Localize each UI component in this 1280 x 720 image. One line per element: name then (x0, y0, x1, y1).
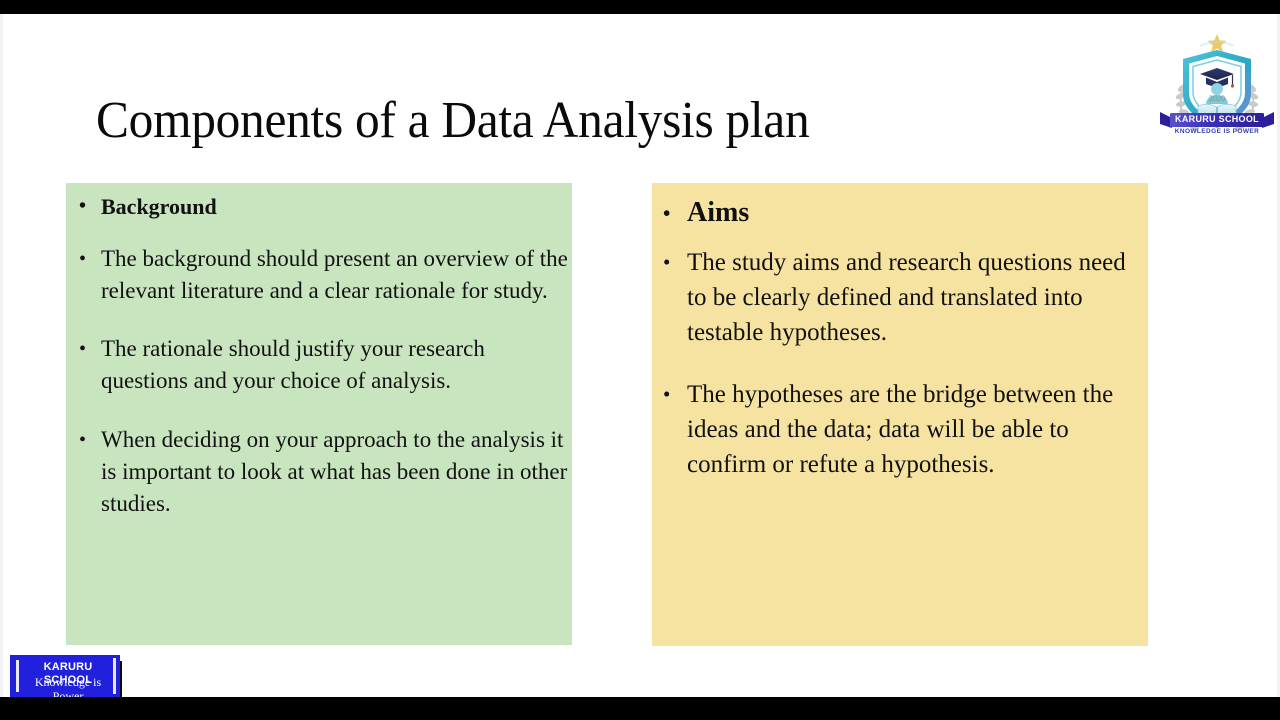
crest-school-name: KARURU SCHOOL (1158, 114, 1276, 125)
bullet-dot-icon: • (663, 245, 670, 280)
list-item: • The background should present an overv… (66, 243, 572, 307)
list-item: • Background (66, 191, 572, 222)
watermark-motto: Knowledge is Power (24, 675, 112, 697)
slide-edge-left (0, 14, 3, 697)
watermark-badge: KARURU SCHOOL Knowledge is Power (10, 655, 120, 697)
spacer (652, 233, 1148, 245)
spacer (66, 397, 572, 424)
bullet-dot-icon: • (79, 424, 86, 456)
badge-rule-left (16, 660, 19, 692)
letterbox-bar-top (0, 0, 1280, 14)
background-heading: Background (101, 194, 217, 219)
school-crest-logo: 2020 KARURU SCHOOL KNOWLEDGE IS POWER (1158, 32, 1276, 148)
slide-frame: Components of a Data Analysis plan • Bac… (0, 0, 1280, 720)
background-bullet-list: • Background • The background should pre… (66, 183, 572, 520)
spacer (66, 307, 572, 333)
bullet-dot-icon: • (79, 191, 86, 222)
aims-bullet-text: The hypotheses are the bridge between th… (687, 381, 1113, 478)
list-item: • When deciding on your approach to the … (66, 424, 572, 520)
background-bullet-text: When deciding on your approach to the an… (101, 427, 567, 516)
list-item: • The hypotheses are the bridge between … (652, 377, 1148, 482)
bullet-dot-icon: • (663, 193, 670, 233)
list-item: • The rationale should justify your rese… (66, 333, 572, 397)
list-item: • The study aims and research questions … (652, 245, 1148, 350)
crest-year: 2020 (1158, 94, 1276, 104)
letterbox-bar-bottom (0, 697, 1280, 720)
list-item: • Aims (652, 193, 1148, 233)
spacer (652, 350, 1148, 377)
aims-panel: • Aims • The study aims and research que… (652, 183, 1148, 646)
page-title: Components of a Data Analysis plan (96, 90, 1046, 152)
background-bullet-text: The rationale should justify your resear… (101, 336, 485, 393)
slide-canvas: Components of a Data Analysis plan • Bac… (0, 14, 1280, 697)
background-panel: • Background • The background should pre… (66, 183, 572, 645)
bullet-dot-icon: • (79, 333, 86, 365)
background-bullet-text: The background should present an overvie… (101, 246, 568, 303)
aims-bullet-list: • Aims • The study aims and research que… (652, 183, 1148, 482)
aims-heading: Aims (687, 197, 749, 228)
crest-motto: KNOWLEDGE IS POWER (1158, 127, 1276, 136)
badge-rule-right (113, 658, 116, 694)
spacer (66, 222, 572, 243)
bullet-dot-icon: • (79, 243, 86, 275)
bullet-dot-icon: • (663, 377, 670, 412)
aims-bullet-text: The study aims and research questions ne… (687, 249, 1126, 346)
